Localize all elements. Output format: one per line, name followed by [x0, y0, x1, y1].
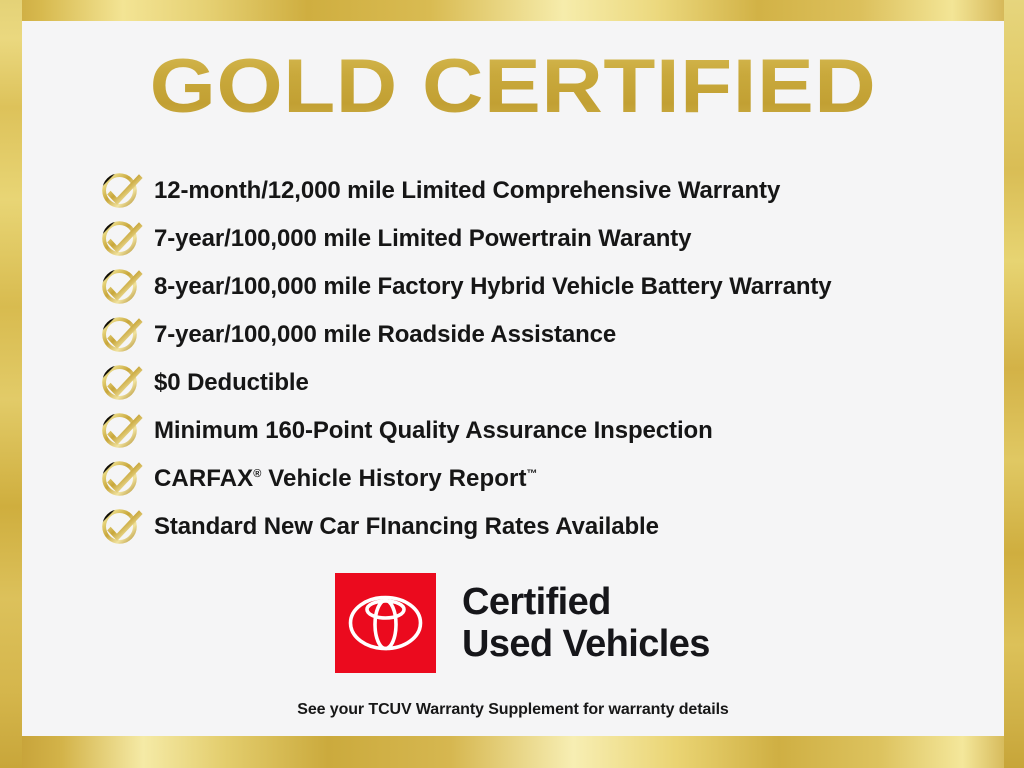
- frame-border-bottom: [0, 736, 1024, 768]
- gold-check-circle-icon: [98, 505, 144, 549]
- trademark-mark: ™: [527, 468, 538, 480]
- list-item-label: Standard New Car FInancing Rates Availab…: [154, 514, 659, 540]
- disclaimer-text: See your TCUV Warranty Supplement for wa…: [22, 701, 1004, 719]
- carfax-rest: Vehicle History Report: [262, 465, 527, 492]
- list-item: 7-year/100,000 mile Roadside Assistance: [98, 311, 998, 359]
- registered-mark: ®: [253, 468, 261, 480]
- list-item: 7-year/100,000 mile Limited Powertrain W…: [98, 215, 998, 263]
- list-item: 12-month/12,000 mile Limited Comprehensi…: [98, 167, 998, 215]
- list-item-label: 12-month/12,000 mile Limited Comprehensi…: [154, 178, 780, 204]
- gold-check-circle-icon: [98, 457, 144, 501]
- toyota-emblem-icon: [335, 573, 436, 673]
- list-item-label: $0 Deductible: [154, 370, 309, 396]
- list-item-label: 8-year/100,000 mile Factory Hybrid Vehic…: [154, 274, 832, 300]
- frame-border-top: [0, 0, 1024, 21]
- toyota-certified-used-vehicles-lockup: Certified Used Vehicles: [335, 573, 710, 673]
- content-panel: GOLD CERTIFIED: [22, 21, 1004, 736]
- lockup-line2: Used Vehicles: [462, 623, 710, 665]
- list-item: Minimum 160-Point Quality Assurance Insp…: [98, 407, 998, 455]
- page-title: GOLD CERTIFIED: [0, 45, 1024, 129]
- lockup-text: Certified Used Vehicles: [462, 581, 710, 665]
- list-item-label: 7-year/100,000 mile Roadside Assistance: [154, 322, 616, 348]
- list-item: $0 Deductible: [98, 359, 998, 407]
- gold-check-circle-icon: [98, 217, 144, 261]
- list-item: Standard New Car FInancing Rates Availab…: [98, 503, 998, 551]
- list-item-label-carfax: CARFAX® Vehicle History Report™: [154, 466, 538, 492]
- gold-check-circle-icon: [98, 265, 144, 309]
- benefits-list: 12-month/12,000 mile Limited Comprehensi…: [98, 167, 998, 551]
- gold-certified-card: GOLD CERTIFIED: [0, 0, 1024, 768]
- gold-check-circle-icon: [98, 361, 144, 405]
- gold-check-circle-icon: [98, 409, 144, 453]
- list-item: CARFAX® Vehicle History Report™: [98, 455, 998, 503]
- lockup-line1: Certified: [462, 581, 611, 623]
- list-item: 8-year/100,000 mile Factory Hybrid Vehic…: [98, 263, 998, 311]
- gold-check-circle-icon: [98, 313, 144, 357]
- list-item-label: Minimum 160-Point Quality Assurance Insp…: [154, 418, 713, 444]
- gold-check-circle-icon: [98, 169, 144, 213]
- list-item-label: 7-year/100,000 mile Limited Powertrain W…: [154, 226, 691, 252]
- carfax-brand: CARFAX: [154, 465, 253, 492]
